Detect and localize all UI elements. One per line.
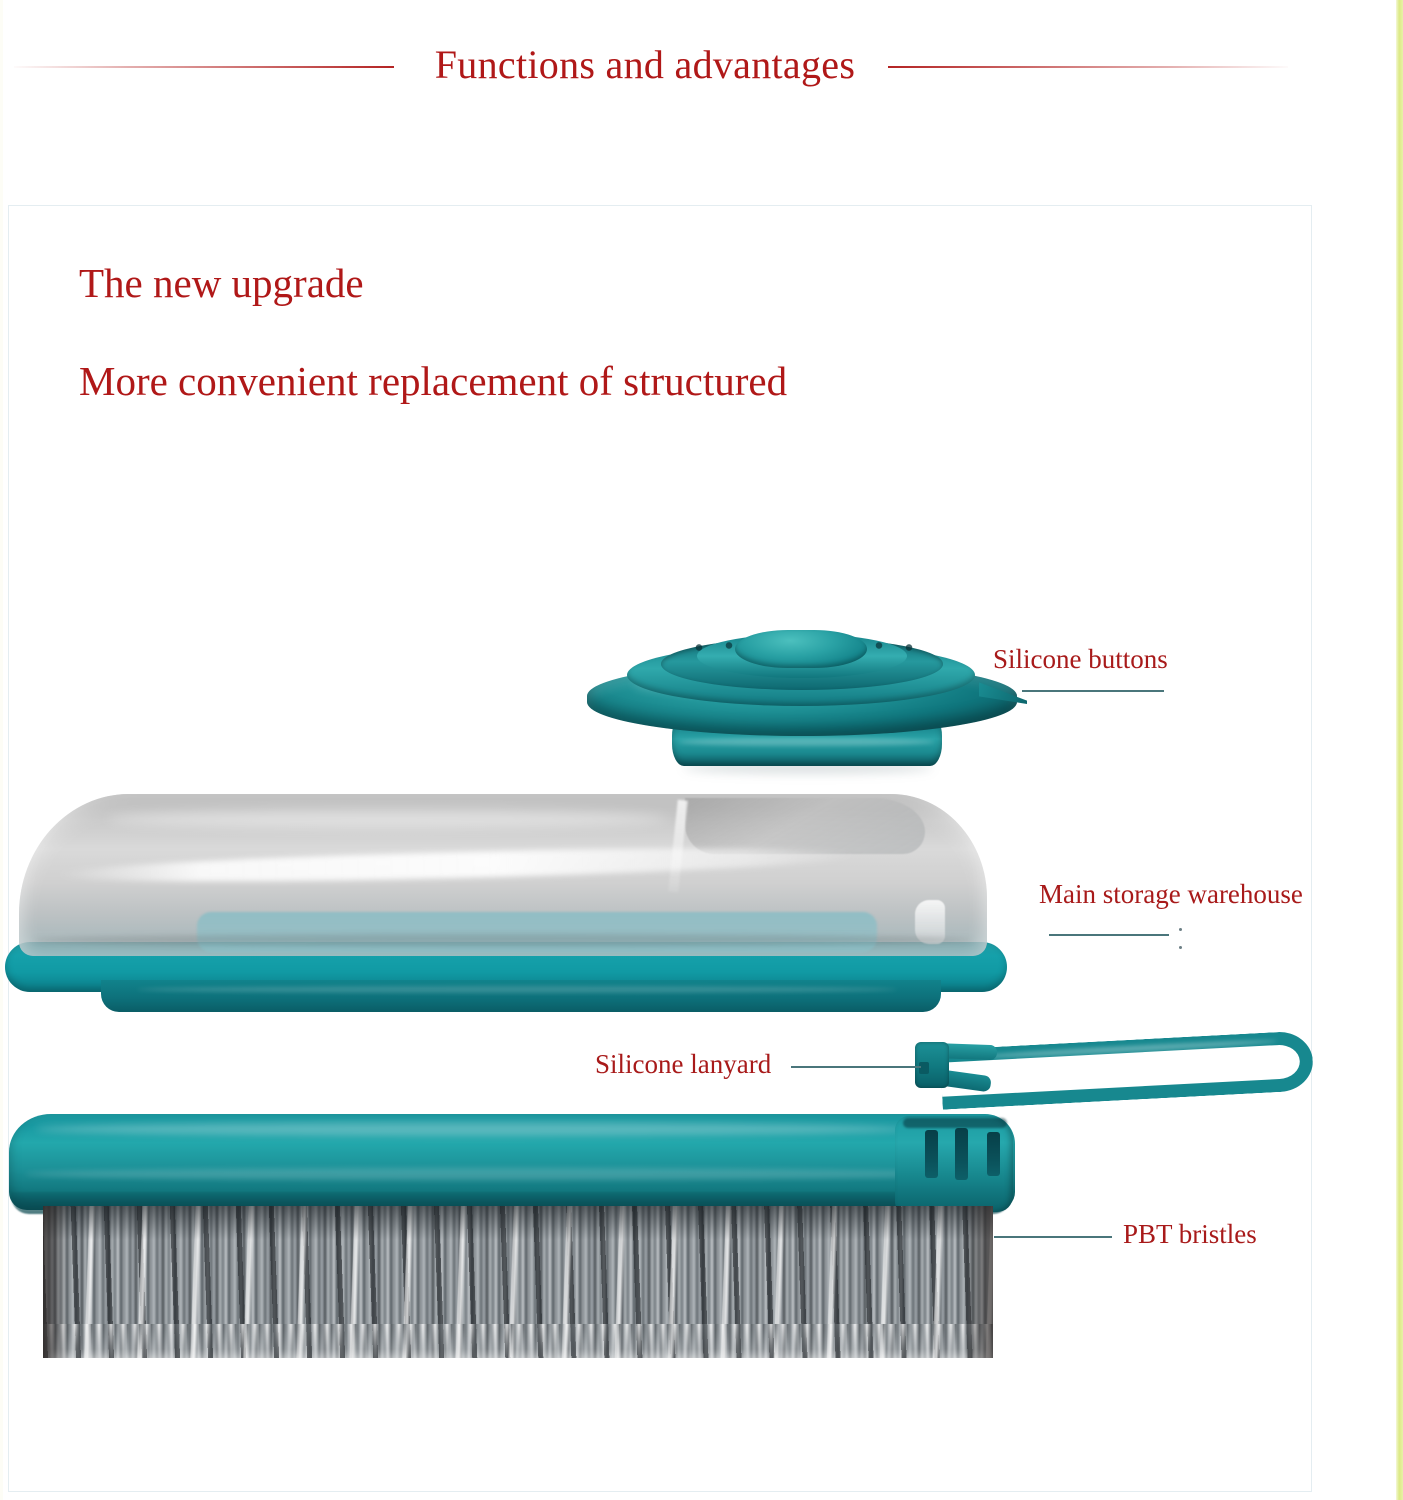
callout-leader-silicone-lanyard (791, 1066, 921, 1068)
brush-hinge (903, 1118, 1007, 1128)
brush-top-highlight (35, 1122, 915, 1136)
lanyard-highlight (977, 1038, 1277, 1060)
storage-foot (101, 980, 941, 1012)
callout-leader-pbt-bristles (994, 1236, 1112, 1238)
cap-lower-groove (679, 738, 934, 746)
brush-part (0, 1114, 1029, 1366)
brush-body (9, 1114, 1015, 1210)
content-panel: The new upgrade More convenient replacem… (8, 205, 1312, 1492)
storage-dome-glass (19, 794, 987, 956)
cap-center-knob (735, 630, 867, 668)
cap-lower-body (672, 714, 942, 766)
left-edge-strip (0, 0, 3, 1500)
cap-ring-mid (661, 638, 943, 690)
storage-dome-top-gloss (107, 810, 667, 828)
brush-bottom-edge (11, 1192, 1011, 1214)
cap-spout (979, 680, 1027, 704)
bristle-dark-strands (43, 1206, 993, 1358)
storage-foot-highlight (137, 986, 897, 993)
bristle-right-shadow (963, 1206, 993, 1358)
brush-end-cap (895, 1116, 1013, 1212)
storage-dome-highlight (57, 842, 857, 888)
callout-leader-dot-lower (1179, 946, 1182, 949)
storage-base (5, 942, 1007, 992)
bristle-left-shadow (43, 1206, 69, 1358)
headline-primary: The new upgrade (79, 261, 364, 306)
storage-inner-tint (197, 912, 877, 952)
storage-notch-edge (668, 800, 688, 893)
callout-label-pbt-bristles: PBT bristles (1123, 1221, 1257, 1248)
lanyard-tail-lower (926, 1068, 992, 1093)
cap-skirt (587, 662, 1017, 736)
bristle-field (43, 1206, 993, 1358)
page-title: Functions and advantages (0, 40, 1290, 90)
cap-drop-shadow (683, 762, 933, 774)
bristle-tips (43, 1324, 993, 1358)
cap-skirt-highlight (633, 674, 933, 694)
cap-ring-inner (697, 634, 907, 678)
storage-release-tab (915, 900, 945, 944)
storage-rim-shadow (33, 934, 973, 946)
lanyard-clip-notch (919, 1062, 929, 1074)
lanyard-clip (915, 1042, 949, 1088)
storage-dome-notch (685, 798, 925, 854)
callout-leader-dot-upper (1179, 928, 1182, 931)
bristle-tuft-gaps (43, 1206, 993, 1358)
callout-label-silicone-lanyard: Silicone lanyard (595, 1051, 771, 1078)
brush-slot-1 (925, 1130, 938, 1178)
silicone-cap-part (587, 630, 1017, 780)
brush-slot-3 (987, 1132, 1000, 1176)
lanyard-loop (940, 1030, 1315, 1109)
header-band: Functions and advantages (0, 0, 1396, 140)
brush-side-highlight (25, 1168, 965, 1180)
callout-leader-main-storage-warehouse (1049, 934, 1169, 936)
right-edge-strip (1396, 0, 1403, 1500)
cap-perforations (679, 639, 929, 656)
brush-slot-2 (955, 1128, 968, 1180)
headline-secondary: More convenient replacement of structure… (79, 359, 787, 404)
callout-label-silicone-buttons: Silicone buttons (993, 646, 1168, 673)
bristle-root-shadow (43, 1206, 993, 1240)
callout-leader-silicone-buttons (1022, 690, 1164, 692)
cap-ring-outer (627, 644, 975, 706)
silicone-lanyard-part (907, 1034, 1317, 1106)
callout-label-main-storage-warehouse: Main storage warehouse (1039, 881, 1303, 908)
bristle-strands (43, 1206, 993, 1358)
storage-dome-part (0, 794, 1027, 1019)
lanyard-tail-upper (927, 1043, 997, 1060)
